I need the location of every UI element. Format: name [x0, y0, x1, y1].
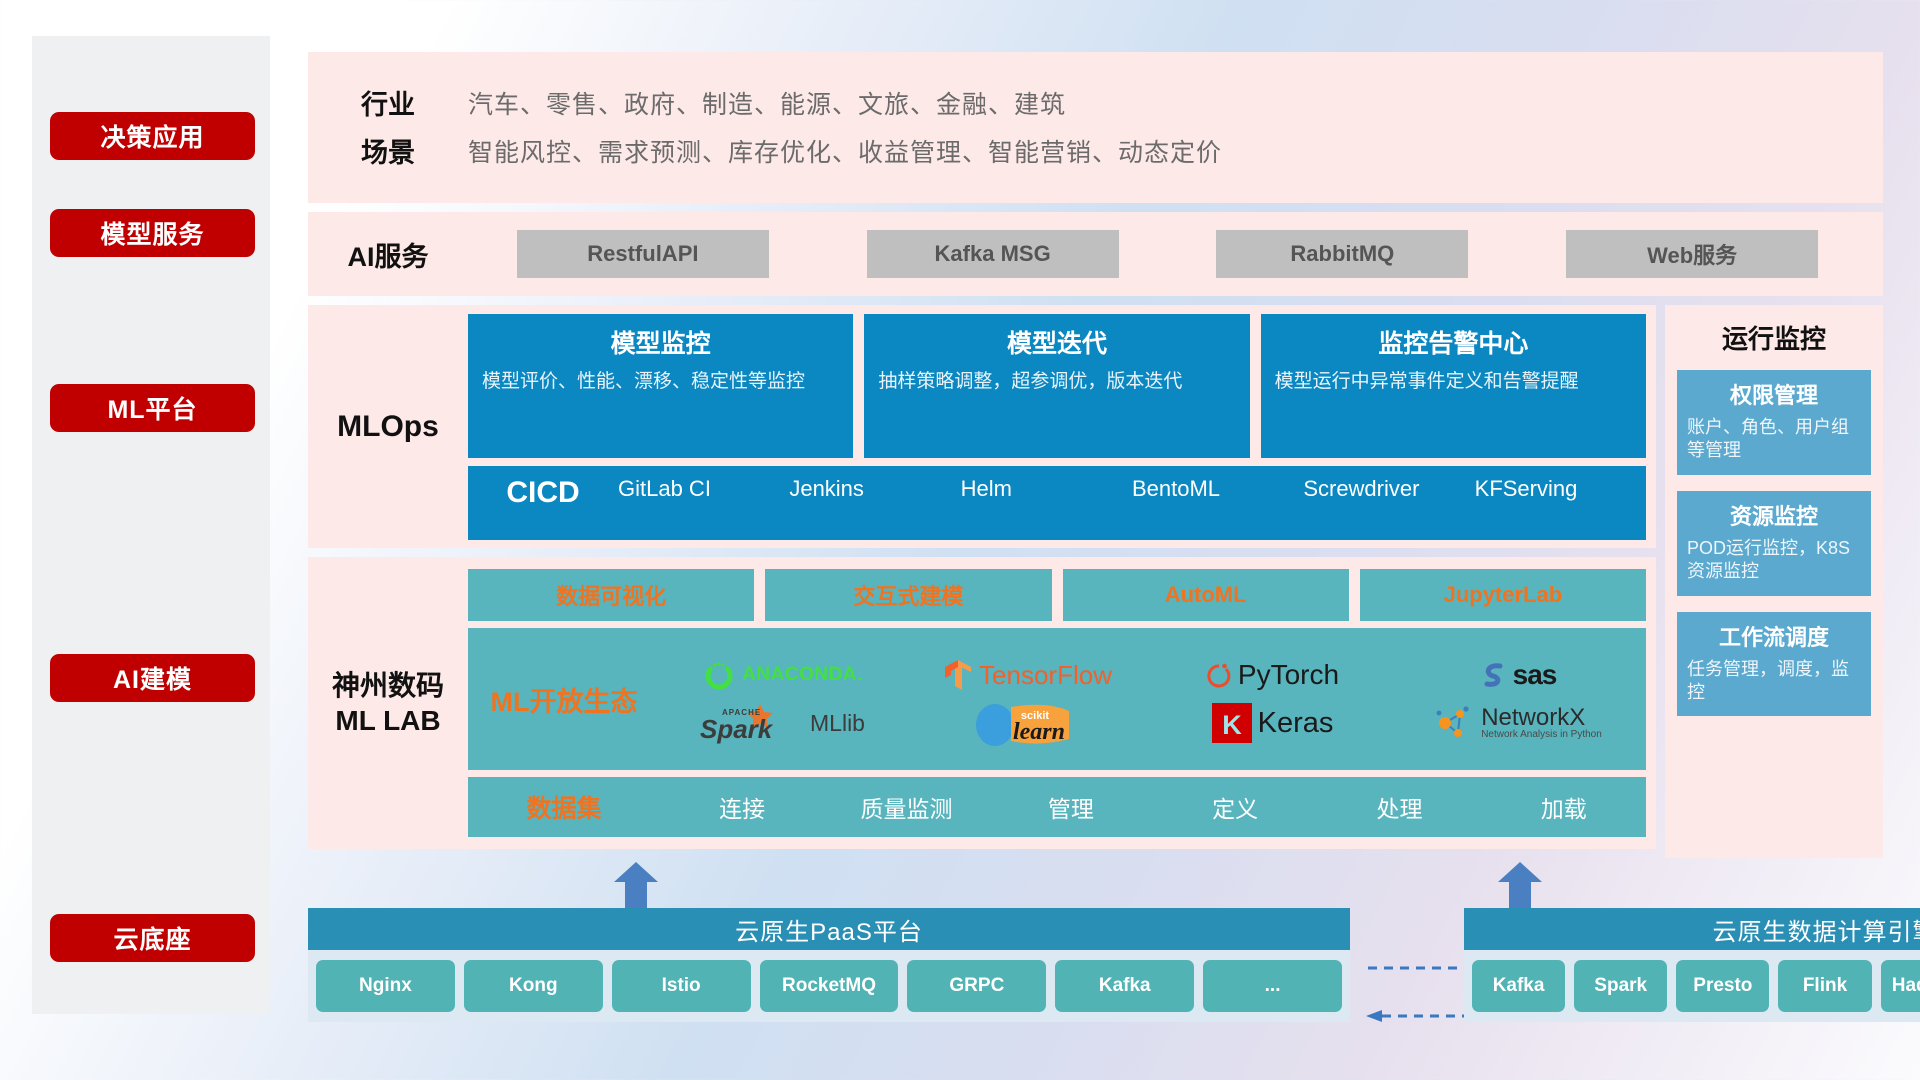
- industry-values: 汽车、零售、政府、制造、能源、文旅、金融、建筑: [468, 85, 1066, 121]
- chip-spark[interactable]: Spark: [1574, 960, 1667, 1012]
- card-title: 模型迭代: [878, 324, 1235, 360]
- card-desc: 模型评价、性能、漂移、稳定性等监控: [482, 369, 839, 395]
- spark-mllib-logo: APACHE Spark MLlib: [700, 702, 865, 744]
- card-title: 模型监控: [482, 324, 839, 360]
- ai-service-label: AI服务: [308, 235, 468, 274]
- cloud-data-engine-header: 云原生数据计算引擎: [1464, 908, 1920, 950]
- rail-item-decision-app[interactable]: 决策应用: [50, 112, 255, 160]
- monitor-card-permission[interactable]: 权限管理 账户、角色、用户组等管理: [1677, 370, 1871, 475]
- tool-interactive-modeling[interactable]: 交互式建模: [765, 569, 1051, 621]
- chip-presto[interactable]: Presto: [1676, 960, 1769, 1012]
- card-title: 资源监控: [1687, 499, 1861, 531]
- networkx-logo-tagline: Network Analysis in Python: [1481, 730, 1602, 740]
- industry-row: 行业 汽车、零售、政府、制造、能源、文旅、金融、建筑: [308, 83, 1883, 122]
- chip-rocketmq[interactable]: RocketMQ: [760, 960, 899, 1012]
- cloud-group-paas: 云原生PaaS平台 Nginx Kong Istio RocketMQ GRPC…: [308, 908, 1350, 1022]
- ml-lab-band: 神州数码 ML LAB 数据可视化 交互式建模 AutoML JupyterLa…: [308, 557, 1656, 849]
- dataset-item-quality[interactable]: 质量监测: [824, 790, 988, 824]
- chip-istio[interactable]: Istio: [612, 960, 751, 1012]
- chip-more-paas[interactable]: ...: [1203, 960, 1342, 1012]
- stack-layer-rail: 决策应用 模型服务 ML平台 AI建模 云底座: [32, 36, 270, 1014]
- tensorflow-logo-text: TensorFlow: [979, 660, 1112, 691]
- ai-service-kafka-msg[interactable]: Kafka MSG: [867, 230, 1119, 278]
- anaconda-logo: ANACONDA.: [702, 658, 863, 692]
- dataset-item-load[interactable]: 加载: [1482, 790, 1646, 824]
- cicd-item-screwdriver[interactable]: Screwdriver: [1303, 476, 1474, 501]
- scikit-learn-logo: scikit learn: [973, 699, 1083, 747]
- cicd-item-jenkins[interactable]: Jenkins: [789, 476, 960, 501]
- mllib-text: MLlib: [810, 710, 865, 737]
- ai-service-box-group: RestfulAPI Kafka MSG RabbitMQ Web服务: [468, 230, 1883, 278]
- cicd-title: CICD: [468, 476, 618, 509]
- cloud-paas-chip-group: Nginx Kong Istio RocketMQ GRPC Kafka ...: [308, 950, 1350, 1022]
- chip-flink[interactable]: Flink: [1778, 960, 1871, 1012]
- ml-open-ecosystem-label: ML开放生态: [468, 680, 660, 719]
- chip-kafka[interactable]: Kafka: [1055, 960, 1194, 1012]
- networkx-logo: NetworkX Network Analysis in Python: [1433, 703, 1602, 743]
- ml-open-ecosystem-row: ML开放生态 ANACONDA.: [468, 628, 1646, 770]
- mlops-card-model-iteration[interactable]: 模型迭代 抽样策略调整，超参调优，版本迭代: [864, 314, 1249, 458]
- cicd-item-gitlab-ci[interactable]: GitLab CI: [618, 476, 789, 501]
- runtime-monitor-title: 运行监控: [1677, 319, 1871, 356]
- ml-lab-tool-group: 数据可视化 交互式建模 AutoML JupyterLab: [468, 569, 1646, 621]
- dataset-item-define[interactable]: 定义: [1153, 790, 1317, 824]
- mlops-card-model-monitoring[interactable]: 模型监控 模型评价、性能、漂移、稳定性等监控: [468, 314, 853, 458]
- card-desc: 模型运行中异常事件定义和告警提醒: [1275, 369, 1632, 395]
- industry-label: 行业: [308, 83, 468, 122]
- rail-item-cloud-base[interactable]: 云底座: [50, 914, 255, 962]
- svg-text:Spark: Spark: [700, 714, 774, 744]
- sas-logo: sas: [1479, 659, 1557, 691]
- arrow-up-data-engine-icon: [1498, 862, 1542, 908]
- card-title: 权限管理: [1687, 378, 1861, 410]
- chip-kafka-engine[interactable]: Kafka: [1472, 960, 1565, 1012]
- cicd-item-bentoml[interactable]: BentoML: [1132, 476, 1303, 501]
- tool-data-visualization[interactable]: 数据可视化: [468, 569, 754, 621]
- card-desc: 账户、角色、用户组等管理: [1687, 416, 1861, 463]
- cloud-base-zone: 云原生PaaS平台 Nginx Kong Istio RocketMQ GRPC…: [308, 862, 1886, 1022]
- dataset-title: 数据集: [468, 789, 660, 825]
- cloud-paas-header: 云原生PaaS平台: [308, 908, 1350, 950]
- cloud-data-engine-chip-group: Kafka Spark Presto Flink Hadoop Storm ..…: [1464, 950, 1920, 1022]
- arrow-up-paas-icon: [614, 862, 658, 908]
- keras-logo-text: Keras: [1258, 707, 1334, 740]
- rail-item-ai-modeling[interactable]: AI建模: [50, 654, 255, 702]
- card-desc: 任务管理，调度，监控: [1687, 658, 1861, 705]
- svg-text:learn: learn: [1012, 719, 1064, 745]
- chip-hadoop[interactable]: Hadoop: [1881, 960, 1920, 1012]
- sas-logo-text: sas: [1513, 659, 1557, 691]
- ml-lab-label-line1: 神州数码: [308, 668, 468, 703]
- dataset-item-process[interactable]: 处理: [1317, 790, 1481, 824]
- anaconda-logo-text: ANACONDA.: [742, 664, 863, 686]
- card-desc: 抽样策略调整，超参调优，版本迭代: [878, 369, 1235, 395]
- ai-service-band: AI服务 RestfulAPI Kafka MSG RabbitMQ Web服务: [308, 212, 1883, 296]
- tool-jupyterlab[interactable]: JupyterLab: [1360, 569, 1646, 621]
- runtime-monitor-panel: 运行监控 权限管理 账户、角色、用户组等管理 资源监控 POD运行监控，K8S资…: [1665, 305, 1883, 858]
- cicd-item-kfserving[interactable]: KFServing: [1475, 476, 1646, 501]
- mlops-band: MLOps 模型监控 模型评价、性能、漂移、稳定性等监控 模型迭代 抽样策略调整…: [308, 305, 1656, 548]
- rail-item-model-service[interactable]: 模型服务: [50, 209, 255, 257]
- chip-nginx[interactable]: Nginx: [316, 960, 455, 1012]
- monitor-card-resource[interactable]: 资源监控 POD运行监控，K8S资源监控: [1677, 491, 1871, 596]
- networkx-logo-text: NetworkX: [1481, 706, 1602, 730]
- monitor-card-workflow[interactable]: 工作流调度 任务管理，调度，监控: [1677, 612, 1871, 717]
- cicd-bar: CICD GitLab CI Jenkins Helm BentoML Scre…: [468, 466, 1646, 540]
- ml-lab-label: 神州数码 ML LAB: [308, 668, 468, 738]
- ai-service-rabbitmq[interactable]: RabbitMQ: [1216, 230, 1468, 278]
- mlops-card-group: 模型监控 模型评价、性能、漂移、稳定性等监控 模型迭代 抽样策略调整，超参调优，…: [468, 314, 1646, 458]
- industry-scenario-band: 行业 汽车、零售、政府、制造、能源、文旅、金融、建筑 场景 智能风控、需求预测、…: [308, 52, 1883, 203]
- chip-grpc[interactable]: GRPC: [907, 960, 1046, 1012]
- chip-kong[interactable]: Kong: [464, 960, 603, 1012]
- pytorch-logo-text: PyTorch: [1238, 659, 1339, 691]
- pytorch-logo: PyTorch: [1206, 659, 1339, 691]
- tool-automl[interactable]: AutoML: [1063, 569, 1349, 621]
- keras-logo: K Keras: [1212, 703, 1334, 743]
- rail-item-ml-platform[interactable]: ML平台: [50, 384, 255, 432]
- card-title: 工作流调度: [1687, 620, 1861, 652]
- card-desc: POD运行监控，K8S资源监控: [1687, 537, 1861, 584]
- mlops-label: MLOps: [308, 410, 468, 444]
- svg-text:K: K: [1222, 710, 1242, 740]
- ai-service-restfulapi[interactable]: RestfulAPI: [517, 230, 769, 278]
- dataset-row: 数据集 连接 质量监测 管理 定义 处理 加载: [468, 777, 1646, 837]
- ai-service-web[interactable]: Web服务: [1566, 230, 1818, 278]
- ecosystem-logo-grid: ANACONDA. TensorFlow: [660, 651, 1646, 747]
- card-title: 监控告警中心: [1275, 324, 1632, 360]
- mlops-card-alert-center[interactable]: 监控告警中心 模型运行中异常事件定义和告警提醒: [1261, 314, 1646, 458]
- cloud-group-data-engine: 云原生数据计算引擎 Kafka Spark Presto Flink Hadoo…: [1464, 908, 1920, 1022]
- cicd-item-helm[interactable]: Helm: [961, 476, 1132, 501]
- scenario-label: 场景: [308, 131, 468, 170]
- dataset-item-connect[interactable]: 连接: [660, 790, 824, 824]
- ml-lab-label-line2: ML LAB: [308, 703, 468, 738]
- scenario-row: 场景 智能风控、需求预测、库存优化、收益管理、智能营销、动态定价: [308, 131, 1883, 170]
- scenario-values: 智能风控、需求预测、库存优化、收益管理、智能营销、动态定价: [468, 133, 1222, 169]
- tensorflow-logo: TensorFlow: [943, 658, 1112, 692]
- dataset-item-manage[interactable]: 管理: [989, 790, 1153, 824]
